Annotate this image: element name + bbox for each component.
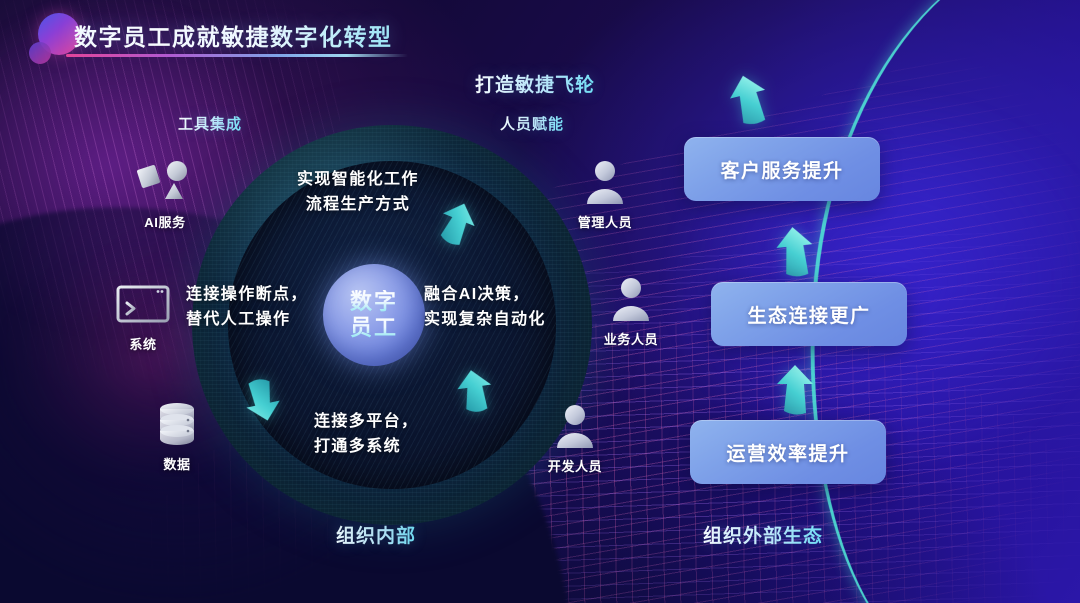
up-arrow-icon: [775, 363, 815, 417]
sphere-text-left-line2: 替代人工操作: [186, 308, 308, 333]
right-item-manager[interactable]: 管理人员: [557, 158, 653, 231]
core-orb[interactable]: 数字 员工: [323, 264, 425, 366]
right-item-business-label: 业务人员: [583, 329, 679, 348]
person-icon: [527, 402, 623, 450]
sphere-text-top-line1: 实现智能化工作: [297, 168, 419, 193]
left-item-ai-service-label: AI服务: [117, 212, 213, 231]
sphere-text-bottom-line2: 打通多系统: [314, 435, 418, 460]
header-divider: [66, 54, 408, 57]
outcome-box-efficiency[interactable]: 运营效率提升: [690, 420, 886, 484]
gradient-circle-small-icon: [29, 42, 51, 64]
sphere-text-left: 连接操作断点， 替代人工操作: [186, 283, 308, 333]
zone-label-external: 组织外部生态: [703, 521, 823, 548]
sphere-text-bottom-line1: 连接多平台，: [314, 410, 418, 435]
page-title: 数字员工成就敏捷数字化转型: [74, 18, 393, 52]
right-item-manager-label: 管理人员: [557, 212, 653, 231]
flywheel-title: 打造敏捷飞轮: [475, 70, 595, 97]
sphere-text-top: 实现智能化工作 流程生产方式: [297, 168, 419, 218]
right-item-developer-label: 开发人员: [527, 456, 623, 475]
sphere-text-right-line2: 实现复杂自动化: [424, 308, 546, 333]
outcome-box-ecosystem[interactable]: 生态连接更广: [711, 282, 907, 346]
left-item-data[interactable]: 数据: [129, 400, 225, 473]
sphere-text-right-line1: 融合AI决策，: [424, 283, 546, 308]
slide-canvas: 数字员工成就敏捷数字化转型 打造敏捷飞轮 工具集成 人员赋能 组织内部 组织外部…: [0, 0, 1080, 603]
left-item-system[interactable]: 系统: [95, 280, 191, 353]
core-label-line2: 员工: [350, 316, 398, 341]
right-item-business[interactable]: 业务人员: [583, 275, 679, 348]
sphere-text-bottom: 连接多平台， 打通多系统: [314, 410, 418, 460]
zone-label-internal: 组织内部: [336, 521, 416, 548]
database-stack-icon: [129, 400, 225, 448]
curved-arrow-icon: [449, 365, 499, 419]
person-icon: [557, 158, 653, 206]
terminal-window-icon: [95, 280, 191, 328]
sphere-text-top-line2: 流程生产方式: [297, 193, 419, 218]
left-item-data-label: 数据: [129, 454, 225, 473]
left-item-ai-service[interactable]: AI服务: [117, 158, 213, 231]
core-label-line1: 数字: [350, 290, 398, 315]
outcome-box-customer-service[interactable]: 客户服务提升: [684, 137, 880, 201]
up-arrow-icon: [772, 223, 817, 281]
right-item-developer[interactable]: 开发人员: [527, 402, 623, 475]
left-item-system-label: 系统: [95, 334, 191, 353]
slide-header: 数字员工成就敏捷数字化转型: [0, 0, 1080, 72]
ai-shapes-icon: [117, 158, 213, 206]
person-icon: [583, 275, 679, 323]
sphere-text-left-line1: 连接操作断点，: [186, 283, 308, 308]
sphere-text-right: 融合AI决策， 实现复杂自动化: [424, 283, 546, 333]
